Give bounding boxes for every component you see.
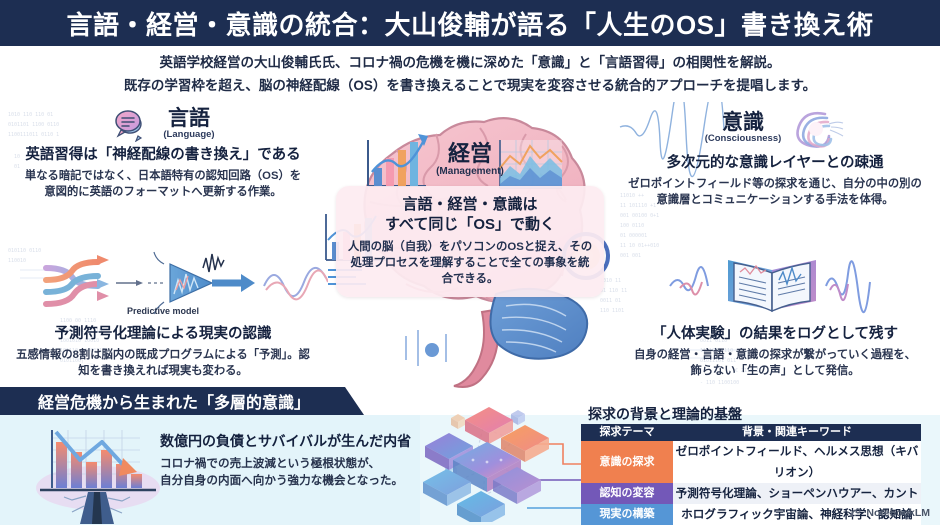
crisis-body-1: コロナ禍での売上波減という極根状態が、 bbox=[160, 455, 415, 472]
log-body: 自身の経営・言語・意識の探求が繋がっていく過程を、飾らない「生の声」として発信。 bbox=[610, 347, 940, 379]
consciousness-subtitle: (Consciousness) bbox=[705, 133, 782, 144]
os-callout-card: 言語・経営・意識は すべて同じ「OS」で動く 人間の脳（自我）をパソコンのOSと… bbox=[336, 186, 604, 297]
subtitle-line-1: 英語学校経営の大山俊輔氏氏、コロナ禍の危機を機に深めた「意識」と「言語習得」の相… bbox=[0, 52, 940, 75]
management-title: 経営 bbox=[370, 136, 570, 168]
consciousness-lead: 多次元的な意識レイヤーとの疎通 bbox=[610, 154, 940, 173]
block-log: 「人体実験」の結果をログとして残す 自身の経営・言語・意識の探求が繋がっていく過… bbox=[610, 250, 940, 379]
consciousness-title: 意識 bbox=[722, 112, 764, 134]
open-book-icon bbox=[610, 250, 940, 318]
block-predictive: Predictive model 予測符号化理論による現実の認識 五感情報の8割… bbox=[0, 250, 328, 379]
block-consciousness: 意識 (Consciousness) bbox=[610, 106, 940, 208]
language-title: 言語 bbox=[168, 108, 210, 130]
svg-text:- 110 1100100: - 110 1100100 bbox=[700, 380, 739, 384]
predictive-lead: 予測符号化理論による現実の認識 bbox=[0, 325, 328, 344]
title-bar: 言語・経営・意識の統合：大山俊輔が語る「人生のOS」書き換え術 bbox=[0, 0, 940, 46]
notebooklm-brand-label: NotebookLM bbox=[866, 507, 930, 519]
language-subtitle: (Language) bbox=[163, 129, 214, 140]
table-row-label: 意識の探求 bbox=[581, 441, 673, 483]
predictive-model-icon: Predictive model bbox=[0, 250, 328, 318]
subtitle-line-2: 既存の学習枠を超え、脳の神経配線（OS）を書き換えることで現実を変容させる統合的… bbox=[0, 75, 940, 98]
table-row-value: ゼロポイントフィールド、ヘルメス思想（キバリオン） bbox=[673, 441, 921, 483]
isometric-network-icon bbox=[415, 404, 590, 522]
table-header-theme: 探求テーマ bbox=[581, 424, 673, 441]
table-row: 意識の探求 ゼロポイントフィールド、ヘルメス思想（キバリオン） bbox=[581, 441, 921, 483]
management-subtitle: (Management) bbox=[370, 166, 570, 177]
table-row: 認知の変容 予測符号化理論、ショーペンハウアー、カント bbox=[581, 483, 921, 504]
declining-chart-icon bbox=[28, 420, 168, 525]
os-card-body: 人間の脳（自我）をパソコンのOSと捉え、その処理プロセスを理解することで全ての事… bbox=[346, 239, 594, 288]
language-lead: 英語習得は「神経配線の書き換え」である bbox=[0, 146, 328, 165]
crisis-lead: 数億円の負債とサバイバルが生んだ内省 bbox=[160, 433, 415, 451]
predictive-body: 五感情報の8割は脳内の既成プログラムによる「予測」。認知を書き換えれば現実も変わ… bbox=[0, 347, 328, 379]
consciousness-body: ゼロポイントフィールド等の探求を通じ、自分の中の別の意識層とコミュニケーションす… bbox=[610, 176, 940, 208]
table-header-row: 探求テーマ 背景・関連キーワード bbox=[581, 424, 921, 441]
brain-illustration: 経営 (Management) 言語・経営・意識は すべて同じ「OS」で動く 人… bbox=[310, 98, 640, 390]
infographic-page: 言語・経営・意識の統合：大山俊輔が語る「人生のOS」書き換え術 英語学校経営の大… bbox=[0, 0, 940, 525]
table-row-value: 予測符号化理論、ショーペンハウアー、カント bbox=[673, 483, 921, 504]
table-row-label: 認知の変容 bbox=[581, 483, 673, 504]
bottom-banner: 経営危機から生まれた「多層的意識」 bbox=[0, 387, 364, 415]
block-language: 言語 (Language) 英語習得は「神経配線の書き換え」である 単なる暗記で… bbox=[0, 106, 328, 200]
notebooklm-brand: NotebookLM bbox=[849, 507, 930, 519]
crisis-text: 数億円の負債とサバイバルが生んだ内省 コロナ禍での売上波減という極根状態が、 自… bbox=[160, 433, 415, 489]
table-header-keywords: 背景・関連キーワード bbox=[673, 424, 921, 441]
spiral-vortex-icon bbox=[787, 106, 845, 150]
log-lead: 「人体実験」の結果をログとして残す bbox=[610, 325, 940, 344]
speech-bubbles-icon bbox=[111, 106, 157, 142]
page-title: 言語・経営・意識の統合：大山俊輔が語る「人生のOS」書き換え術 bbox=[66, 5, 873, 42]
notebooklm-logo-icon bbox=[849, 508, 862, 519]
svg-text:Predictive model: Predictive model bbox=[127, 306, 199, 316]
crisis-body-2: 自分自身の内面へ向かう強力な機会となった。 bbox=[160, 472, 415, 489]
language-body: 単なる暗記ではなく、日本語特有の認知回路（OS）を意図的に英語のフォーマットへ更… bbox=[0, 168, 328, 200]
table-row-label: 現実の構築 bbox=[581, 504, 673, 525]
main-content: 1010 110 110 01 0101101 1100 0110 110011… bbox=[0, 102, 940, 384]
os-card-line-1: 言語・経営・意識は bbox=[346, 195, 594, 215]
os-card-line-2: すべて同じ「OS」で動く bbox=[346, 215, 594, 235]
table-title: 探求の背景と理論的基盤 bbox=[588, 404, 742, 424]
management-label: 経営 (Management) bbox=[370, 136, 570, 177]
subtitle-block: 英語学校経営の大山俊輔氏氏、コロナ禍の危機を機に深めた「意識」と「言語習得」の相… bbox=[0, 52, 940, 98]
bottom-banner-label: 経営危機から生まれた「多層的意識」 bbox=[38, 389, 326, 413]
